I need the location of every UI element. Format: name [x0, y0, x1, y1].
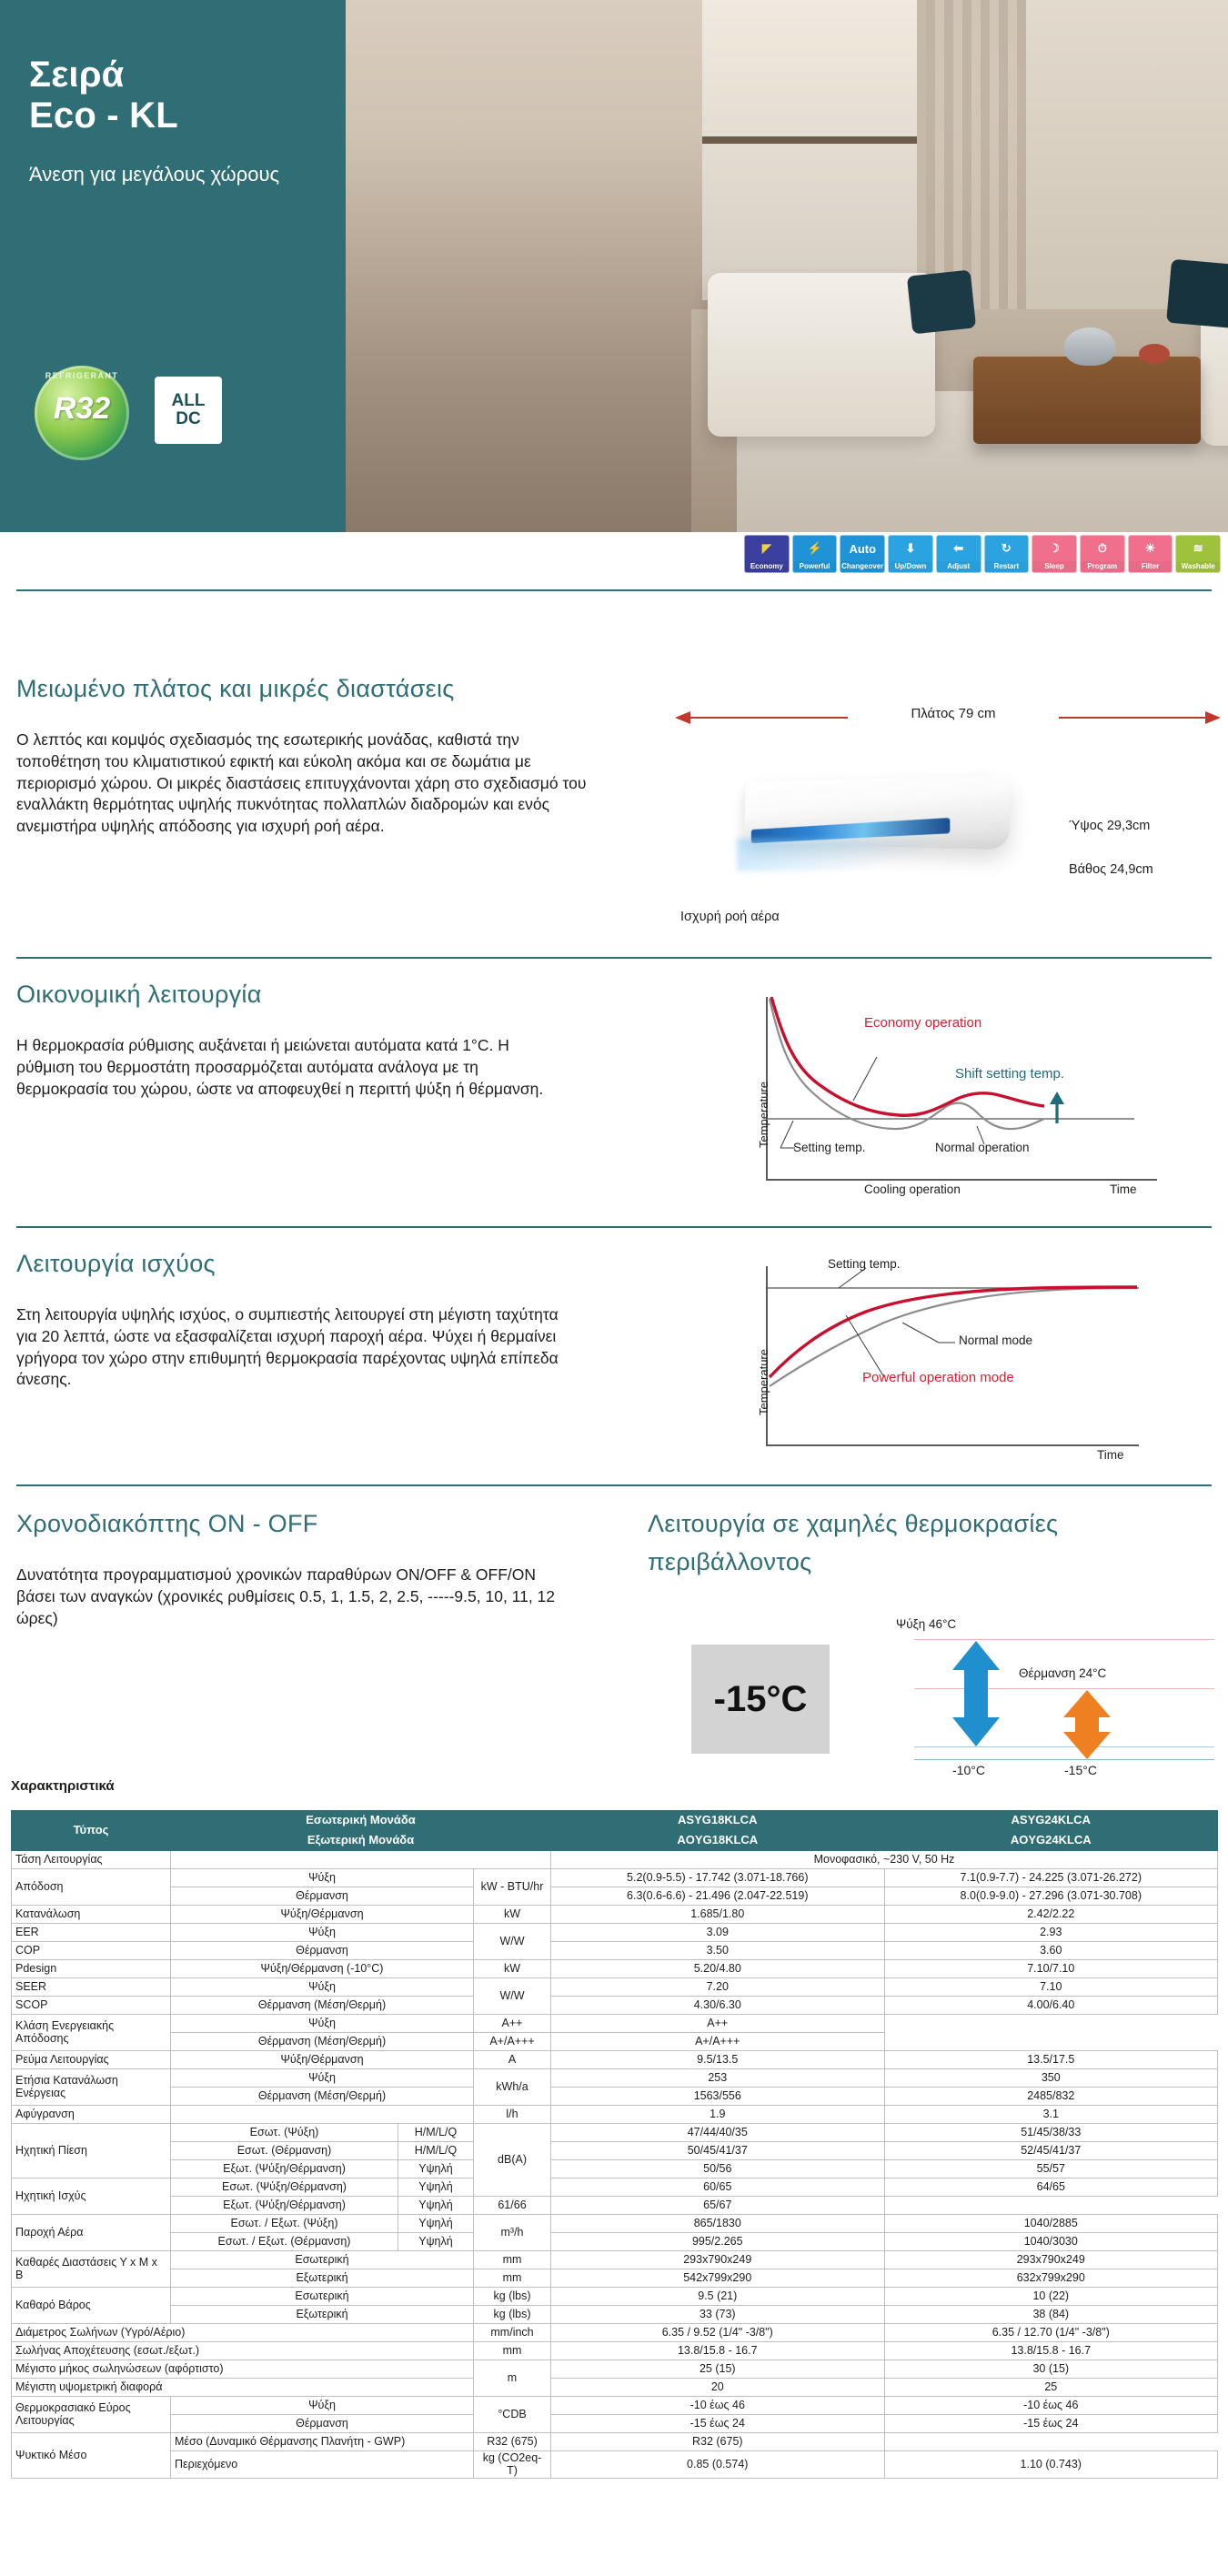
row-sub-label: Ψύξη — [171, 2015, 474, 2033]
table-row: Μέγιστη υψομετρική διαφορά2025 — [12, 2379, 1218, 2397]
powerful-mode-label: Powerful operation mode — [862, 1370, 1014, 1385]
coffee-table-decor — [973, 357, 1201, 444]
row-sub-label: Εξωτερική — [171, 2269, 474, 2288]
row-mode-label: Υψηλή — [398, 2179, 474, 2197]
series-line-2: Eco - KL — [29, 96, 329, 136]
table-row: Ετήσια Κατανάλωση ΕνέργειαςΨύξηkWh/a2533… — [12, 2069, 1218, 2088]
powerful-icon-label: Powerful — [793, 561, 837, 572]
row-sub-label: Ψύξη/Θέρμανση — [171, 2051, 474, 2069]
value-model-2: 632x799x290 — [884, 2269, 1218, 2288]
width-label: Πλάτος 79 cm — [848, 706, 1059, 721]
row-unit: mm/inch — [474, 2324, 551, 2342]
row-unit: kW — [474, 1906, 551, 1924]
filter-icon-label: Filter — [1129, 561, 1173, 572]
economy-curve-label: Economy operation — [864, 1015, 981, 1031]
cooling-top-label: Ψύξη 46°C — [896, 1617, 956, 1631]
value-model-2: R32 (675) — [551, 2433, 885, 2451]
spec-table-title: Χαρακτηριστικά — [11, 1778, 115, 1794]
height-label: Ύψος 29,3cm — [1069, 819, 1150, 833]
value-model-1: 9.5 (21) — [551, 2288, 885, 2306]
value-model-2: 13.8/15.8 - 16.7 — [884, 2342, 1218, 2360]
table-row: Εσωτ. / Εξωτ. (Θέρμανση)Υψηλή995/2.26510… — [12, 2233, 1218, 2251]
up-down-icon-label: Up/Down — [889, 561, 932, 572]
row-mode-label: H/M/L/Q — [398, 2124, 474, 2142]
divider — [16, 1226, 1212, 1228]
indoor-unit-photo — [728, 764, 1028, 873]
value-model-2: 55/57 — [884, 2160, 1218, 2179]
divider — [16, 589, 1212, 591]
table-row: Παροχή ΑέραΕσωτ. / Εξωτ. (Ψύξη)Υψηλήm³/h… — [12, 2215, 1218, 2233]
value-model-1: 61/66 — [474, 2197, 551, 2215]
row-sub-label: Ψύξη/Θέρμανση — [171, 1906, 474, 1924]
table-row: Εξωτ. (Ψύξη/Θέρμανση)Υψηλή61/6665/67 — [12, 2197, 1218, 2215]
heating-bottom-label: -15°C — [1064, 1763, 1097, 1777]
value-model-1: -10 έως 46 — [551, 2397, 885, 2415]
window-decor — [702, 0, 926, 300]
table-row: Ηχητική ΙσχύςΕσωτ. (Ψύξη/Θέρμανση)Υψηλή6… — [12, 2179, 1218, 2197]
restart-icon-label: Restart — [985, 561, 1029, 572]
row-unit: kg (lbs) — [474, 2288, 551, 2306]
value-model-1: 293x790x249 — [551, 2251, 885, 2269]
value-model-2: 2485/832 — [884, 2088, 1218, 2106]
powerful-setting-temp-label: Setting temp. — [828, 1257, 901, 1271]
badge-group: REFRIGERANT R32 ALL DC — [18, 364, 327, 468]
washable-icon: ≋Washable — [1175, 535, 1221, 573]
section-timer-heading: Χρονοδιακόπτης ON - OFF — [16, 1510, 580, 1538]
powerful-chart-time-label: Time — [1097, 1448, 1124, 1462]
value-model-1: 3.50 — [551, 1942, 885, 1960]
value-model-2: 8.0(0.9-9.0) - 27.296 (3.071-30.708) — [884, 1887, 1218, 1906]
row-sub-label: Εσωτ. (Ψύξη/Θέρμανση) — [171, 2179, 398, 2197]
restart-icon: ↻Restart — [984, 535, 1030, 573]
header-model-outdoor-2: AOYG24KLCA — [884, 1831, 1218, 1851]
row-label: Αφύγρανση — [12, 2106, 171, 2124]
value-model-2: 2.93 — [884, 1924, 1218, 1942]
table-row: Εξωτ. (Ψύξη/Θέρμανση)Υψηλή50/5655/57 — [12, 2160, 1218, 2179]
value-model-1: A+/A+++ — [474, 2033, 551, 2051]
table-row: Μέγιστο μήκος σωληνώσεων (αφόρτιστο)m25 … — [12, 2360, 1218, 2379]
table-row: Εξωτερικήkg (lbs)33 (73)38 (84) — [12, 2306, 1218, 2324]
row-sub-label — [171, 1851, 551, 1869]
r32-label: R32 — [35, 391, 129, 427]
feature-icon-strip: ◤Economy⚡PowerfulAutoChangeover⬇Up/Down⬅… — [744, 535, 1221, 571]
header-model-indoor-1: ASYG18KLCA — [551, 1811, 885, 1831]
product-series-title: Σειρά Eco - KL — [29, 55, 329, 136]
arrow-head-left-icon — [675, 711, 690, 724]
section-economy-body: Η θερμοκρασία ρύθμισης αυξάνεται ή μειών… — [16, 1035, 562, 1100]
table-row: Περιεχόμενοkg (CO2eq-T)0.85 (0.574)1.10 … — [12, 2451, 1218, 2479]
row-unit: m³/h — [474, 2215, 551, 2251]
value-model-1: 6.3(0.6-6.6) - 21.496 (2.047-22.519) — [551, 1887, 885, 1906]
row-sub-label: Θέρμανση (Μέση/Θερμή) — [171, 1997, 474, 2015]
value-model-2: 64/65 — [884, 2179, 1218, 2197]
table-row: SEERΨύξηW/W7.207.10 — [12, 1978, 1218, 1997]
row-sub-label: Θέρμανση — [171, 2415, 474, 2433]
cooling-bottom-label: -10°C — [952, 1763, 985, 1777]
value-model-2: 51/45/38/33 — [884, 2124, 1218, 2142]
table-row: ΑπόδοσηΨύξηkW - BTU/hr5.2(0.9-5.5) - 17.… — [12, 1869, 1218, 1887]
row-span-value: Μονοφασικό, ~230 V, 50 Hz — [551, 1851, 1218, 1869]
value-model-2: A+/A+++ — [551, 2033, 885, 2051]
program-icon-label: Program — [1081, 561, 1124, 572]
value-model-2: 25 — [884, 2379, 1218, 2397]
all-dc-line-2: DC — [176, 410, 200, 428]
header-outdoor: Εξωτερική Μονάδα — [171, 1831, 551, 1851]
sleep-icon: ☽Sleep — [1032, 535, 1077, 573]
value-model-1: 3.09 — [551, 1924, 885, 1942]
section-lowtemp-heading-line2: περιβάλλοντος — [648, 1548, 1221, 1576]
value-model-1: A++ — [474, 2015, 551, 2033]
row-label: SCOP — [12, 1997, 171, 2015]
filter-icon-glyph: ☀ — [1129, 537, 1173, 560]
hero-banner: Σειρά Eco - KL Άνεση για μεγάλους χώρους… — [0, 0, 1228, 573]
header-type: Τύπος — [12, 1811, 171, 1851]
row-sub-label: Εσωτ. / Εξωτ. (Θέρμανση) — [171, 2233, 398, 2251]
row-unit: A — [474, 2051, 551, 2069]
row-sub-label: Θέρμανση (Μέση/Θερμή) — [171, 2033, 474, 2051]
economy-chart-xlabel: Cooling operation — [864, 1182, 961, 1196]
hero-room-photo — [346, 0, 1228, 532]
economy-icon-label: Economy — [745, 561, 789, 572]
value-model-1: 995/2.265 — [551, 2233, 885, 2251]
row-label: Σωλήνας Αποχέτευσης (εσωτ./εξωτ.) — [12, 2342, 474, 2360]
row-mode-label: Υψηλή — [398, 2197, 474, 2215]
airflow-label: Ισχυρή ροή αέρα — [680, 910, 780, 924]
row-label: Καθαρό Βάρος — [12, 2288, 171, 2324]
up-down-icon: ⬇Up/Down — [888, 535, 933, 573]
value-model-1: 33 (73) — [551, 2306, 885, 2324]
value-model-2: 10 (22) — [884, 2288, 1218, 2306]
table-row: Ψυκτικό ΜέσοΜέσο (Δυναμικό Θέρμανσης Πλα… — [12, 2433, 1218, 2451]
row-mode-label: Υψηλή — [398, 2233, 474, 2251]
row-sub-label: Εξωτερική — [171, 2306, 474, 2324]
adjust-icon: ⬅Adjust — [936, 535, 981, 573]
row-sub-label: Εξωτ. (Ψύξη/Θέρμανση) — [171, 2197, 398, 2215]
row-sub-label: Εσωτ. / Εξωτ. (Ψύξη) — [171, 2215, 398, 2233]
value-model-1: 50/56 — [551, 2160, 885, 2179]
up-down-icon-glyph: ⬇ — [889, 537, 932, 560]
section-economy-heading: Οικονομική λειτουργία — [16, 981, 599, 1009]
teapot-decor — [1064, 327, 1115, 366]
table-row: Εξωτερικήmm542x799x290632x799x290 — [12, 2269, 1218, 2288]
row-label: Ηχητική Ισχύς — [12, 2179, 171, 2215]
value-model-1: 5.20/4.80 — [551, 1960, 885, 1978]
section-dimensions-heading: Μειωμένο πλάτος και μικρές διαστάσεις — [16, 675, 617, 703]
row-sub-label: Περιεχόμενο — [171, 2451, 474, 2479]
table-row: Θέρμανση-15 έως 24-15 έως 24 — [12, 2415, 1218, 2433]
table-row: ΚατανάλωσηΨύξη/ΘέρμανσηkW1.685/1.802.42/… — [12, 1906, 1218, 1924]
header-model-indoor-2: ASYG24KLCA — [884, 1811, 1218, 1831]
table-row: Σωλήνας Αποχέτευσης (εσωτ./εξωτ.)mm13.8/… — [12, 2342, 1218, 2360]
all-dc-badge: ALL DC — [155, 377, 222, 444]
spec-table-body: Τάση ΛειτουργίαςΜονοφασικό, ~230 V, 50 H… — [12, 1851, 1218, 2479]
adjust-icon-glyph: ⬅ — [937, 537, 981, 560]
economy-icon: ◤Economy — [744, 535, 790, 573]
row-unit: kWh/a — [474, 2069, 551, 2106]
divider — [16, 1484, 1212, 1486]
row-sub-label — [171, 2106, 474, 2124]
airflow-visual — [737, 839, 964, 871]
value-model-2: 4.00/6.40 — [884, 1997, 1218, 2015]
normal-mode-label: Normal mode — [959, 1333, 1032, 1347]
header-model-outdoor-1: AOYG18KLCA — [551, 1831, 885, 1851]
program-icon: ⏱Program — [1080, 535, 1125, 573]
row-label: Καθαρές Διαστάσεις Υ x Μ x Β — [12, 2251, 171, 2288]
row-unit: °CDB — [474, 2397, 551, 2433]
table-row: Εσωτ. (Θέρμανση)H/M/L/Q50/45/41/3752/45/… — [12, 2142, 1218, 2160]
washable-icon-glyph: ≋ — [1176, 537, 1220, 560]
row-sub-label: Ψύξη — [171, 2069, 474, 2088]
value-model-1: 542x799x290 — [551, 2269, 885, 2288]
all-dc-line-1: ALL — [172, 392, 206, 410]
value-model-2: 1.10 (0.743) — [884, 2451, 1218, 2479]
row-label: Θερμοκρασιακό Εύρος Λειτουργίας — [12, 2397, 171, 2433]
value-model-2: 3.1 — [884, 2106, 1218, 2124]
value-model-2: 6.35 / 12.70 (1/4" -3/8") — [884, 2324, 1218, 2342]
shift-setting-temp-label: Shift setting temp. — [955, 1066, 1064, 1082]
specifications-table: Τύπος Εσωτερική Μονάδα ASYG18KLCA ASYG24… — [11, 1810, 1218, 2479]
value-model-1: 9.5/13.5 — [551, 2051, 885, 2069]
row-label: Μέγιστη υψομετρική διαφορά — [12, 2379, 474, 2397]
heating-top-label: Θέρμανση 24°C — [1019, 1666, 1106, 1680]
row-sub-label: Εσωτ. (Θέρμανση) — [171, 2142, 398, 2160]
table-header-row-indoor: Τύπος Εσωτερική Μονάδα ASYG18KLCA ASYG24… — [12, 1811, 1218, 1831]
program-icon-glyph: ⏱ — [1081, 537, 1124, 560]
row-unit: mm — [474, 2342, 551, 2360]
economy-operation-chart: Temperature Economy operation Shift sett… — [711, 982, 1221, 1196]
auto-changeover-icon-label: Changeover — [840, 561, 884, 572]
width-dimension-arrow: Πλάτος 79 cm — [675, 709, 1221, 726]
auto-changeover-icon: AutoChangeover — [840, 535, 885, 573]
table-row: Θέρμανση (Μέση/Θερμή)1563/5562485/832 — [12, 2088, 1218, 2106]
row-label: Διάμετρος Σωλήνων (Υγρό/Αέριο) — [12, 2324, 474, 2342]
pillow-decor — [907, 270, 976, 335]
row-sub-label: Ψύξη — [171, 2397, 474, 2415]
value-model-2: -10 έως 46 — [884, 2397, 1218, 2415]
value-model-2: 38 (84) — [884, 2306, 1218, 2324]
value-model-1: 1563/556 — [551, 2088, 885, 2106]
series-line-1: Σειρά — [29, 55, 329, 96]
table-row: COPΘέρμανση3.503.60 — [12, 1942, 1218, 1960]
value-model-1: 6.35 / 9.52 (1/4" -3/8") — [551, 2324, 885, 2342]
row-unit: l/h — [474, 2106, 551, 2124]
value-model-2: 7.10 — [884, 1978, 1218, 1997]
table-row: EERΨύξηW/W3.092.93 — [12, 1924, 1218, 1942]
value-model-2: 3.60 — [884, 1942, 1218, 1960]
value-model-1: 865/1830 — [551, 2215, 885, 2233]
low-temp-range-diagram: Ψύξη 46°C Θέρμανση 24°C -10°C -15°C — [814, 1610, 1228, 1783]
row-label: Ηχητική Πίεση — [12, 2124, 171, 2179]
economy-chart-time-label: Time — [1110, 1182, 1137, 1196]
value-model-1: 4.30/6.30 — [551, 1997, 885, 2015]
value-model-2: 7.1(0.9-7.7) - 24.225 (3.071-26.272) — [884, 1869, 1218, 1887]
row-sub-label: Θέρμανση — [171, 1887, 474, 1906]
value-model-2: 52/45/41/37 — [884, 2142, 1218, 2160]
value-model-1: 0.85 (0.574) — [551, 2451, 885, 2479]
row-mode-label: Υψηλή — [398, 2215, 474, 2233]
row-sub-label: Θέρμανση — [171, 1942, 474, 1960]
row-sub-label: Ψύξη — [171, 1869, 474, 1887]
value-model-1: 1.685/1.80 — [551, 1906, 885, 1924]
section-dimensions-body: Ο λεπτός και κομψός σχεδιασμός της εσωτε… — [16, 730, 599, 838]
setting-temp-label: Setting temp. — [793, 1141, 866, 1154]
divider — [16, 957, 1212, 959]
header-indoor: Εσωτερική Μονάδα — [171, 1811, 551, 1831]
fruit-decor — [1139, 344, 1170, 364]
row-label: COP — [12, 1942, 171, 1960]
row-unit: mm — [474, 2251, 551, 2269]
row-sub-label: Εσωτερική — [171, 2288, 474, 2306]
value-model-2: 2.42/2.22 — [884, 1906, 1218, 1924]
value-model-2: 1040/2885 — [884, 2215, 1218, 2233]
normal-operation-label: Normal operation — [935, 1141, 1030, 1154]
value-model-1: R32 (675) — [474, 2433, 551, 2451]
spec-table-head: Τύπος Εσωτερική Μονάδα ASYG18KLCA ASYG24… — [12, 1811, 1218, 1851]
powerful-icon-glyph: ⚡ — [793, 537, 837, 560]
table-row: Ρεύμα ΛειτουργίαςΨύξη/ΘέρμανσηA9.5/13.51… — [12, 2051, 1218, 2069]
row-label: Απόδοση — [12, 1869, 171, 1906]
section-powerful-body: Στη λειτουργία υψηλής ισχύος, ο συμπιεστ… — [16, 1304, 571, 1391]
value-model-2: 13.5/17.5 — [884, 2051, 1218, 2069]
value-model-1: 60/65 — [551, 2179, 885, 2197]
row-label: Τάση Λειτουργίας — [12, 1851, 171, 1869]
depth-label: Βάθος 24,9cm — [1069, 862, 1153, 877]
row-label: EER — [12, 1924, 171, 1942]
refrigerant-caption: REFRIGERANT — [18, 371, 146, 380]
pillow-decor — [1166, 259, 1228, 329]
row-label: Παροχή Αέρα — [12, 2215, 171, 2251]
value-model-1: 25 (15) — [551, 2360, 885, 2379]
row-unit: W/W — [474, 1978, 551, 2015]
powerful-chart-svg — [711, 1252, 1221, 1461]
row-sub-label: Εσωτερική — [171, 2251, 474, 2269]
table-row: SCOPΘέρμανση (Μέση/Θερμή)4.30/6.304.00/6… — [12, 1997, 1218, 2015]
row-sub-label: Εξωτ. (Ψύξη/Θέρμανση) — [171, 2160, 398, 2179]
adjust-icon-label: Adjust — [937, 561, 981, 572]
restart-icon-glyph: ↻ — [985, 537, 1029, 560]
row-mode-label: H/M/L/Q — [398, 2142, 474, 2160]
table-row: Τάση ΛειτουργίαςΜονοφασικό, ~230 V, 50 H… — [12, 1851, 1218, 1869]
value-model-2: A++ — [551, 2015, 885, 2033]
row-unit: kW — [474, 1960, 551, 1978]
value-model-1: 47/44/40/35 — [551, 2124, 885, 2142]
value-model-1: 20 — [551, 2379, 885, 2397]
value-model-1: 253 — [551, 2069, 885, 2088]
value-model-2: 65/67 — [551, 2197, 885, 2215]
table-row: Καθαρό ΒάροςΕσωτερικήkg (lbs)9.5 (21)10 … — [12, 2288, 1218, 2306]
datasheet-page: Σειρά Eco - KL Άνεση για μεγάλους χώρους… — [0, 0, 1228, 2576]
powerful-operation-chart: Temperature Setting temp. Normal mode Po… — [711, 1252, 1221, 1461]
powerful-icon: ⚡Powerful — [792, 535, 838, 573]
table-row: Θερμοκρασιακό Εύρος ΛειτουργίαςΨύξη°CDB-… — [12, 2397, 1218, 2415]
filter-icon: ☀Filter — [1128, 535, 1173, 573]
table-row: Θέρμανση6.3(0.6-6.6) - 21.496 (2.047-22.… — [12, 1887, 1218, 1906]
value-model-1: -15 έως 24 — [551, 2415, 885, 2433]
arrow-head-right-icon — [1205, 711, 1221, 724]
value-model-2: 1040/3030 — [884, 2233, 1218, 2251]
economy-icon-glyph: ◤ — [745, 537, 789, 560]
table-row: Καθαρές Διαστάσεις Υ x Μ x ΒΕσωτερικήmm2… — [12, 2251, 1218, 2269]
row-unit: W/W — [474, 1924, 551, 1960]
auto-changeover-icon-glyph: Auto — [840, 537, 884, 560]
row-label: Κλάση Ενεργειακής Απόδοσης — [12, 2015, 171, 2051]
row-sub-label: Ψύξη — [171, 1924, 474, 1942]
row-label: Ψυκτικό Μέσο — [12, 2433, 171, 2479]
section-powerful-heading: Λειτουργία ισχύος — [16, 1250, 599, 1278]
section-lowtemp-heading-line1: Λειτουργία σε χαμηλές θερμοκρασίες — [648, 1510, 1221, 1538]
value-model-2: 7.10/7.10 — [884, 1960, 1218, 1978]
section-timer-body: Δυνατότητα προγραμματισμού χρονικών παρα… — [16, 1565, 562, 1629]
washable-icon-label: Washable — [1176, 561, 1220, 572]
row-unit: kg (lbs) — [474, 2306, 551, 2324]
table-header-row-outdoor: Εξωτερική Μονάδα AOYG18KLCA AOYG24KLCA — [12, 1831, 1218, 1851]
row-sub-label: Μέσο (Δυναμικό Θέρμανσης Πλανήτη - GWP) — [171, 2433, 474, 2451]
row-sub-label: Ψύξη/Θέρμανση (-10°C) — [171, 1960, 474, 1978]
value-model-1: 50/45/41/37 — [551, 2142, 885, 2160]
row-sub-label: Εσωτ. (Ψύξη) — [171, 2124, 398, 2142]
row-label: Κατανάλωση — [12, 1906, 171, 1924]
row-label: Pdesign — [12, 1960, 171, 1978]
r32-refrigerant-badge: REFRIGERANT R32 — [18, 364, 153, 462]
value-model-2: 350 — [884, 2069, 1218, 2088]
table-row: Αφύγρανσηl/h1.93.1 — [12, 2106, 1218, 2124]
value-model-1: 1.9 — [551, 2106, 885, 2124]
row-label: SEER — [12, 1978, 171, 1997]
sofa-left-decor — [708, 273, 935, 437]
sleep-icon-label: Sleep — [1032, 561, 1076, 572]
table-row: Ηχητική ΠίεσηΕσωτ. (Ψύξη)H/M/L/QdB(A)47/… — [12, 2124, 1218, 2142]
value-model-1: 7.20 — [551, 1978, 885, 1997]
row-unit: dB(A) — [474, 2124, 551, 2197]
low-temp-arrows-svg — [814, 1610, 1228, 1783]
row-unit: kg (CO2eq-T) — [474, 2451, 551, 2479]
row-mode-label: Υψηλή — [398, 2160, 474, 2179]
table-row: Θέρμανση (Μέση/Θερμή)A+/A+++A+/A+++ — [12, 2033, 1218, 2051]
value-model-1: 5.2(0.9-5.5) - 17.742 (3.071-18.766) — [551, 1869, 885, 1887]
table-row: Κλάση Ενεργειακής ΑπόδοσηςΨύξηA++A++ — [12, 2015, 1218, 2033]
row-sub-label: Θέρμανση (Μέση/Θερμή) — [171, 2088, 474, 2106]
value-model-1: 13.8/15.8 - 16.7 — [551, 2342, 885, 2360]
value-model-2: 293x790x249 — [884, 2251, 1218, 2269]
row-unit: m — [474, 2360, 551, 2397]
sleep-icon-glyph: ☽ — [1032, 537, 1076, 560]
row-sub-label: Ψύξη — [171, 1978, 474, 1997]
row-label: Μέγιστο μήκος σωληνώσεων (αφόρτιστο) — [12, 2360, 474, 2379]
row-unit: mm — [474, 2269, 551, 2288]
row-label: Ετήσια Κατανάλωση Ενέργειας — [12, 2069, 171, 2106]
table-row: Διάμετρος Σωλήνων (Υγρό/Αέριο)mm/inch6.3… — [12, 2324, 1218, 2342]
row-unit: kW - BTU/hr — [474, 1869, 551, 1906]
low-temp-badge: -15°C — [691, 1645, 830, 1754]
table-row: PdesignΨύξη/Θέρμανση (-10°C)kW5.20/4.807… — [12, 1960, 1218, 1978]
product-tagline: Άνεση για μεγάλους χώρους — [29, 162, 320, 187]
row-label: Ρεύμα Λειτουργίας — [12, 2051, 171, 2069]
value-model-2: 30 (15) — [884, 2360, 1218, 2379]
value-model-2: -15 έως 24 — [884, 2415, 1218, 2433]
